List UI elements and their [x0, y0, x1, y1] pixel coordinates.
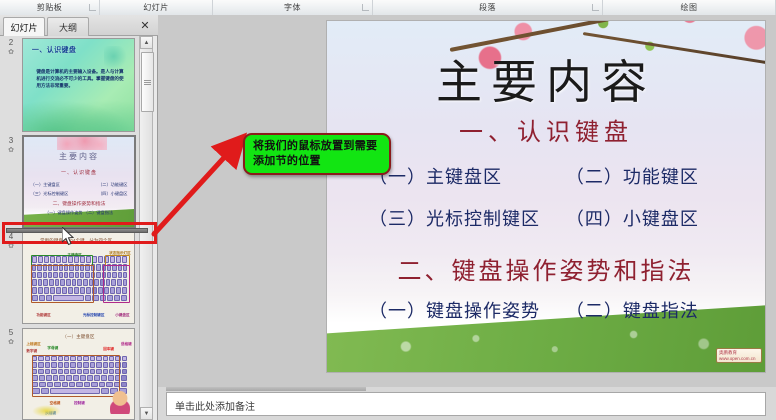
thumbnail-art: 常用的键盘有104个键，分为四个区。 主键盘区 状态指示灯区 功能键区 光标控制…	[23, 233, 134, 323]
list-item[interactable]: 5 ✿ （一）主键盘区 上档键区 字母键 数字键 回车键 退格键 空格键 控制键…	[0, 326, 139, 420]
scrollbar-thumb[interactable]	[141, 52, 154, 112]
list-item[interactable]: 3 ✿ 主要内容 一、认识键盘 （一）主键盘区 （二）功能键区 （三）光标控制键…	[0, 134, 139, 230]
girl-illustration-icon	[110, 390, 130, 413]
tab-slides-label: 幻灯片	[10, 21, 37, 34]
slide-number: 4 ✿	[0, 230, 22, 326]
dialog-launcher-icon[interactable]	[362, 4, 369, 11]
thumb-line2a: （三）光标控制键区	[31, 191, 69, 197]
ribbon-group-2[interactable]: 字体	[213, 0, 373, 15]
region-outline-main	[32, 355, 121, 397]
close-icon[interactable]: ✕	[138, 18, 152, 32]
slide-number: 2 ✿	[0, 36, 22, 134]
slide-body-line-3[interactable]: （一）键盘操作姿势 （二）键盘指法	[353, 297, 747, 323]
region-outline-main	[31, 255, 93, 266]
thumb-sub1: 一、认识键盘	[24, 169, 134, 176]
ribbon-group-label: 绘图	[681, 2, 698, 13]
pane-tab-bar: 幻灯片 大纲 ✕	[0, 15, 158, 36]
animation-star-icon: ✿	[0, 339, 22, 347]
slide-body-line-2[interactable]: （三）光标控制键区 （四）小键盘区	[353, 205, 747, 231]
region-outline-function	[31, 265, 94, 303]
thumb-label-function-key-area: 功能键区	[36, 313, 50, 318]
notes-pane: 单击此处添加备注	[158, 387, 776, 420]
scroll-up-icon[interactable]: ▲	[140, 36, 153, 49]
thumb-label-l7: 控制键	[74, 401, 85, 406]
slide-thumbnail-3[interactable]: 主要内容 一、认识键盘 （一）主键盘区 （二）功能键区 （三）光标控制键区 （四…	[22, 135, 136, 229]
animation-star-icon: ✿	[0, 243, 22, 251]
slide-thumbnail-list[interactable]: 2 ✿ 一、认识键盘 键盘是计算机的主要输入设备。是人与计算机进行交流必不可少的…	[0, 36, 139, 420]
thumb-label-l4: 回车键	[103, 347, 114, 352]
thumb-label-l3: 数字键	[26, 349, 37, 354]
slide-thumbnail-2[interactable]: 一、认识键盘 键盘是计算机的主要输入设备。是人与计算机进行交流必不可少的工具。掌…	[22, 38, 135, 132]
thumb-body: 键盘是计算机的主要输入设备。是人与计算机进行交流必不可少的工具。掌握键盘的使用方…	[36, 69, 125, 89]
ribbon-group-label: 剪贴板	[37, 2, 63, 13]
blossom-decor-icon	[57, 137, 107, 150]
slide-thumbnail-4[interactable]: 常用的键盘有104个键，分为四个区。 主键盘区 状态指示灯区 功能键区 光标控制…	[22, 232, 135, 324]
slide-number: 5 ✿	[0, 326, 22, 420]
thumb-line1a: （一）主键盘区	[31, 182, 60, 188]
thumb-caption: （一）主键盘区	[23, 334, 134, 340]
thumb-label-numpad-area: 小键盘区	[115, 313, 129, 318]
ribbon-group-label: 段落	[479, 2, 496, 13]
tab-outline-label: 大纲	[59, 21, 77, 34]
thumb-label-l2: 字母键	[47, 346, 58, 351]
thumb-caption: 常用的键盘有104个键，分为四个区。	[23, 238, 134, 244]
yellow-decor	[32, 405, 61, 418]
current-slide-canvas[interactable]: 主要内容 一、认识键盘 （一）主键盘区 （二）功能键区 （三）光标控制键区 （四…	[326, 20, 766, 373]
ribbon-group-label: 幻灯片	[143, 2, 169, 13]
thumb-line1b: （二）功能键区	[98, 182, 127, 188]
slide-title[interactable]: 主要内容	[327, 46, 765, 112]
slide-number: 3 ✿	[0, 134, 22, 230]
notes-splitter-handle[interactable]	[166, 387, 366, 391]
slide-thumbnail-5[interactable]: （一）主键盘区 上档键区 字母键 数字键 回车键 退格键 空格键 控制键 换档键	[22, 328, 135, 420]
thumbnail-scrollbar[interactable]: ▲ ▼	[139, 36, 153, 420]
thumb-title: 一、认识键盘	[32, 45, 76, 55]
region-outline-indicators	[105, 255, 129, 266]
ribbon-group-0[interactable]: 剪贴板	[0, 0, 100, 15]
thumbnail-art: （一）主键盘区 上档键区 字母键 数字键 回车键 退格键 空格键 控制键 换档键	[23, 329, 134, 419]
ribbon-group-label-strip: 剪贴板幻灯片字体段落绘图	[0, 0, 776, 16]
slide-heading-2[interactable]: 二、键盘操作姿势和指法	[327, 251, 765, 286]
thumbnail-art: 一、认识键盘 键盘是计算机的主要输入设备。是人与计算机进行交流必不可少的工具。掌…	[23, 39, 134, 131]
slide-item-1a: （一）主键盘区	[353, 163, 566, 189]
slide-heading-1[interactable]: 一、认识键盘	[327, 112, 765, 147]
ribbon-group-label: 字体	[284, 2, 301, 13]
thumb-line2b: （四）小键盘区	[98, 191, 127, 197]
slide-item-3b: （二）键盘指法	[566, 297, 748, 323]
ribbon-group-3[interactable]: 段落	[373, 0, 603, 15]
ribbon-group-1[interactable]: 幻灯片	[100, 0, 213, 15]
thumb-label-l5: 退格键	[121, 342, 132, 347]
tab-outline[interactable]: 大纲	[47, 17, 89, 36]
slide-item-3a: （一）键盘操作姿势	[353, 297, 566, 323]
thumb-label-l1: 上档键区	[26, 342, 40, 347]
dialog-launcher-icon[interactable]	[89, 4, 96, 11]
list-item[interactable]: 4 ✿ 常用的键盘有104个键，分为四个区。 主键盘区 状态指示灯区 功能键区 …	[0, 230, 139, 326]
slides-outline-pane: 幻灯片 大纲 ✕ 2 ✿ 一、认识键盘 键盘是计算机的主要输入设备。是人与计算机…	[0, 15, 158, 420]
thumb-label-cursor-key-area: 光标控制键区	[83, 313, 105, 318]
notes-placeholder[interactable]: 单击此处添加备注	[166, 392, 766, 416]
thumb-sub2: 二、键盘操作姿势和指法	[24, 200, 134, 207]
grass-decor	[23, 100, 134, 131]
region-outline-numpad	[103, 265, 129, 303]
slide-body-line-1[interactable]: （一）主键盘区 （二）功能键区	[353, 163, 747, 189]
thumb-title: 主要内容	[24, 151, 134, 162]
slide-item-2b: （四）小键盘区	[566, 205, 748, 231]
dialog-launcher-icon[interactable]	[592, 4, 599, 11]
scroll-down-icon[interactable]: ▼	[140, 407, 153, 420]
watermark-badge: 奥鹏教育 www.open.com.cn	[716, 348, 762, 363]
thumb-line3: （一）键盘操作姿势 （二）键盘指法	[45, 210, 113, 216]
animation-star-icon: ✿	[0, 147, 22, 155]
animation-star-icon: ✿	[0, 49, 22, 57]
slide-item-1b: （二）功能键区	[566, 163, 748, 189]
slide-editing-area: 主要内容 一、认识键盘 （一）主键盘区 （二）功能键区 （三）光标控制键区 （四…	[158, 15, 776, 387]
ribbon-group-4[interactable]: 绘图	[603, 0, 776, 15]
thumbnail-art: 主要内容 一、认识键盘 （一）主键盘区 （二）功能键区 （三）光标控制键区 （四…	[24, 137, 134, 227]
list-item[interactable]: 2 ✿ 一、认识键盘 键盘是计算机的主要输入设备。是人与计算机进行交流必不可少的…	[0, 36, 139, 134]
tab-slides[interactable]: 幻灯片	[3, 17, 45, 36]
slide-item-2a: （三）光标控制键区	[353, 205, 566, 231]
